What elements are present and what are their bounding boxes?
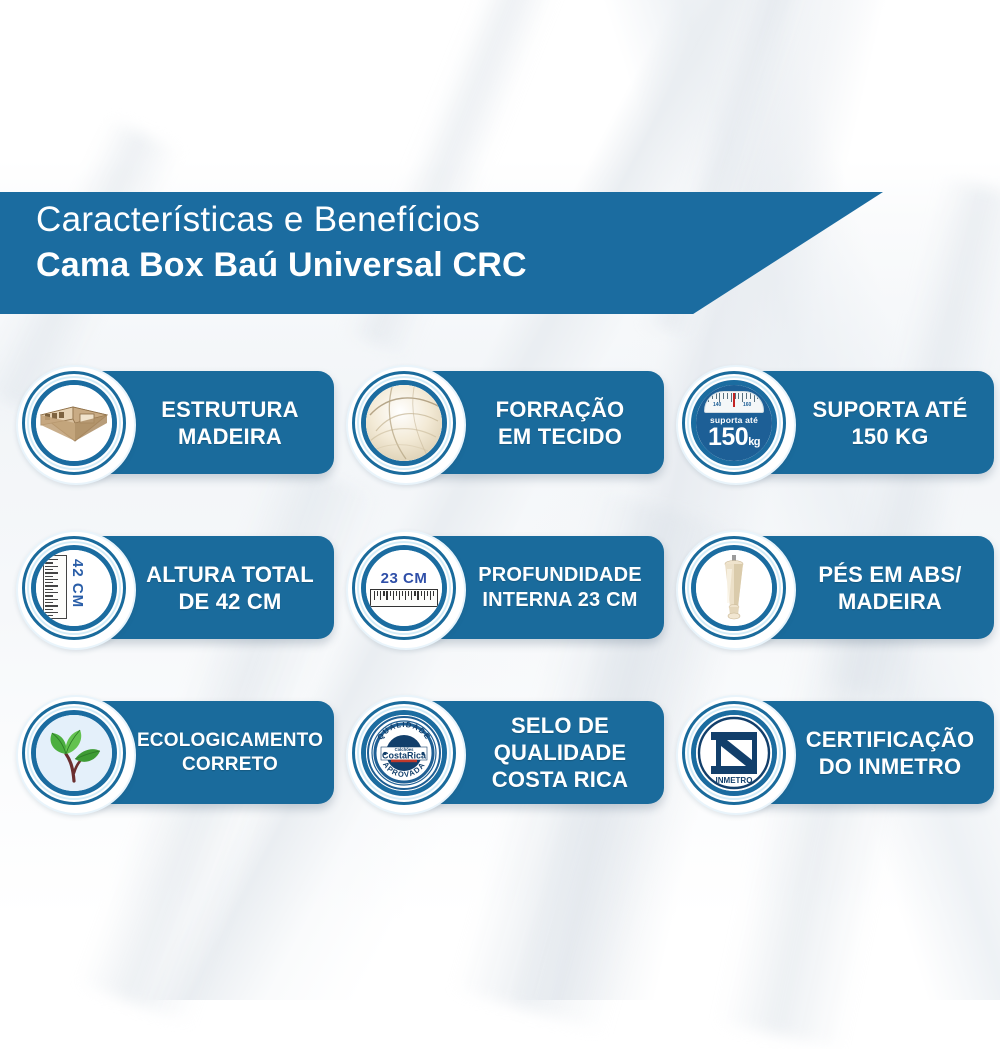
header-banner-text: Características e Benefícios Cama Box Ba… (36, 198, 736, 286)
svg-text:INMETRO: INMETRO (716, 776, 753, 785)
horizontal-ruler-icon: 23 CM (366, 550, 442, 626)
badge-medallion (676, 530, 796, 650)
banner-title: Cama Box Baú Universal CRC (36, 244, 736, 286)
badge-label-line: INTERNA 23 CM (482, 588, 637, 613)
badge-medallion (16, 695, 136, 815)
scale-tick-left: 140 (713, 402, 721, 408)
badge-label: CERTIFICAÇÃODO INMETRO (790, 701, 990, 804)
badge-label-line: QUALIDADE (494, 739, 627, 766)
benefit-badge[interactable]: Colchões CostaRica QUALIDADE APROVADA SE… (342, 693, 672, 858)
inmetro-logo-icon: INMETRO (697, 716, 771, 790)
badge-label: PÉS EM ABS/MADEIRA (790, 536, 990, 639)
badge-label: SUPORTA ATÉ150 KG (790, 371, 990, 474)
badge-medallion: Colchões CostaRica QUALIDADE APROVADA (346, 695, 466, 815)
scale-value: 150kg (708, 425, 760, 455)
badge-label-line: EM TECIDO (498, 423, 622, 450)
badge-label-line: ECOLOGICAMENTO (137, 729, 323, 753)
badge-label-line: MADEIRA (838, 588, 942, 615)
badge-label-line: SELO DE (511, 712, 609, 739)
costa-rica-seal-icon: Colchões CostaRica QUALIDADE APROVADA (366, 715, 442, 791)
horizontal-ruler-icon: 23 CM (369, 570, 439, 607)
badge-label-line: SUPORTA ATÉ (813, 396, 968, 423)
badge-label-line: 150 KG (851, 423, 928, 450)
badge-label-line: ESTRUTURA (161, 396, 298, 423)
wood-frame-icon (36, 385, 112, 461)
badge-label-line: ALTURA TOTAL (146, 561, 314, 588)
scale-tick-right: 160 (743, 402, 751, 408)
eco-plant-icon (36, 715, 112, 791)
furniture-leg-icon (696, 550, 772, 626)
costa-rica-seal-icon: Colchões CostaRica QUALIDADE APROVADA (367, 716, 441, 790)
benefit-badge[interactable]: PÉS EM ABS/MADEIRA (672, 528, 1000, 693)
badge-label: ALTURA TOTALDE 42 CM (130, 536, 330, 639)
benefit-badge[interactable]: 23 CMPROFUNDIDADEINTERNA 23 CM (342, 528, 672, 693)
badge-medallion: 140160suporta até150kg (676, 365, 796, 485)
badge-label: ECOLOGICAMENTOCORRETO (130, 701, 330, 804)
ruler-measure-label: 42 CM (69, 559, 86, 608)
svg-text:CostaRica: CostaRica (382, 751, 427, 761)
fabric-swirl-icon (366, 385, 442, 461)
badge-label-line: MADEIRA (178, 423, 282, 450)
badge-medallion: 42 CM (16, 530, 136, 650)
scale-unit: kg (748, 436, 760, 448)
badge-label-line: PROFUNDIDADE (478, 563, 642, 588)
badge-label-line: DE 42 CM (178, 588, 281, 615)
badge-label: SELO DEQUALIDADECOSTA RICA (460, 701, 660, 804)
benefit-badge[interactable]: ECOLOGICAMENTOCORRETO (12, 693, 342, 858)
vertical-ruler-icon: 42 CM (36, 550, 112, 626)
badge-medallion (16, 365, 136, 485)
weight-scale-icon: 140160suporta até150kg (696, 385, 772, 461)
scale-dial: 140160 (704, 391, 764, 413)
benefit-badge[interactable]: 42 CMALTURA TOTALDE 42 CM (12, 528, 342, 693)
badge-medallion (346, 365, 466, 485)
benefit-badge[interactable]: 140160suporta até150kgSUPORTA ATÉ150 KG (672, 363, 1000, 528)
infographic-page: Características e Benefícios Cama Box Ba… (0, 0, 1000, 1000)
badge-medallion: INMETRO (676, 695, 796, 815)
benefits-grid: ESTRUTURAMADEIRA FORRAÇÃOEM TECIDO140160… (12, 363, 988, 858)
banner-subtitle: Características e Benefícios (36, 198, 736, 242)
benefit-badge[interactable]: ESTRUTURAMADEIRA (12, 363, 342, 528)
badge-label: ESTRUTURAMADEIRA (130, 371, 330, 474)
ruler-body (370, 589, 438, 607)
badge-label: PROFUNDIDADEINTERNA 23 CM (460, 536, 660, 639)
badge-label-line: CERTIFICAÇÃO (806, 726, 975, 753)
badge-label: FORRAÇÃOEM TECIDO (460, 371, 660, 474)
inmetro-logo-icon: INMETRO (696, 715, 772, 791)
benefit-badge[interactable]: FORRAÇÃOEM TECIDO (342, 363, 672, 528)
badge-label-line: DO INMETRO (819, 753, 962, 780)
badge-label-line: COSTA RICA (492, 766, 628, 793)
badge-label-line: FORRAÇÃO (496, 396, 625, 423)
eco-plant-icon (36, 715, 112, 791)
weight-scale-icon: 140160suporta até150kg (696, 385, 772, 461)
vertical-ruler-icon: 42 CM (43, 555, 105, 621)
badge-label-line: CORRETO (182, 753, 278, 777)
ruler-measure-label: 23 CM (381, 570, 428, 587)
badge-medallion: 23 CM (346, 530, 466, 650)
ruler-body (43, 555, 67, 619)
scale-needle (733, 393, 735, 407)
badge-label-line: PÉS EM ABS/ (818, 561, 961, 588)
benefit-badge[interactable]: INMETRO CERTIFICAÇÃODO INMETRO (672, 693, 1000, 858)
